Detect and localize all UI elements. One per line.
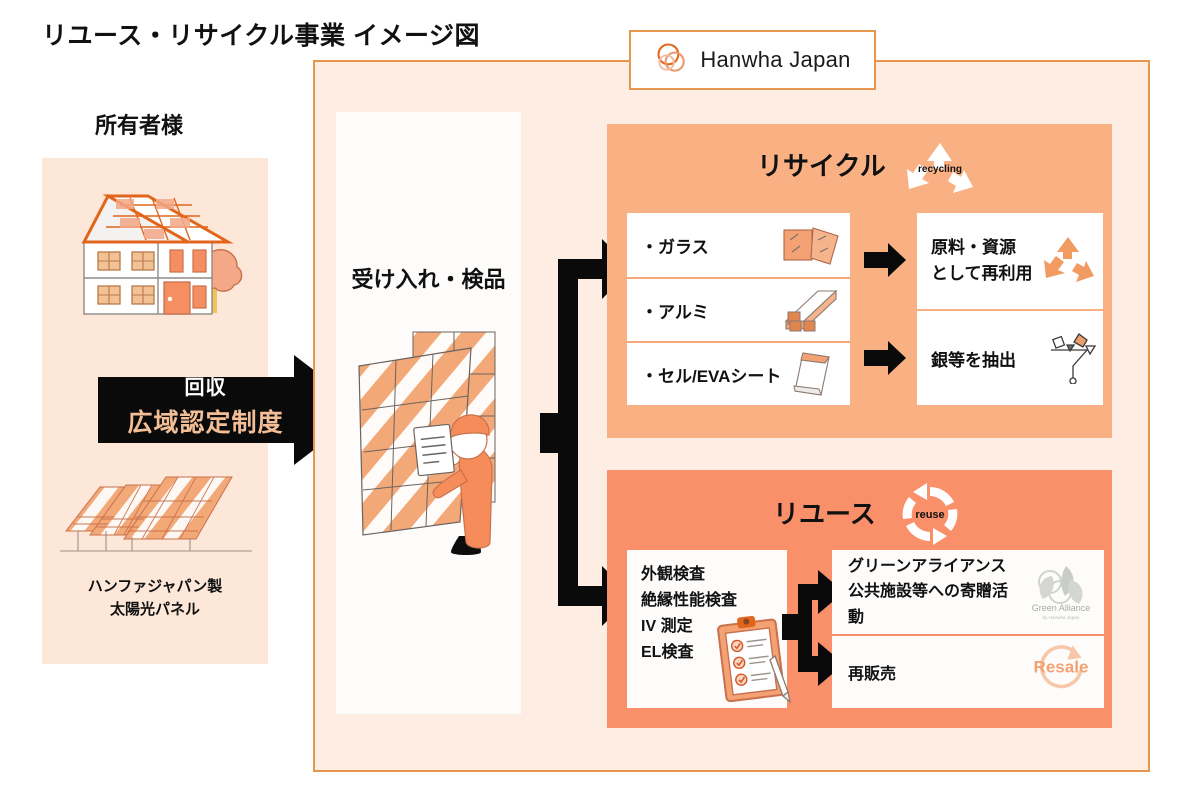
reuse-output-resale: 再販売 Resale bbox=[832, 636, 1104, 708]
reuse-output-line2: 公共施設等への寄贈活動 bbox=[848, 583, 1008, 626]
owner-section-label: 所有者様 bbox=[95, 108, 183, 140]
recycle-material-label: ・セル/EVAシート bbox=[641, 362, 781, 387]
collection-arrow-line1: 回収 bbox=[98, 371, 313, 400]
reuse-test-item: 外観検査 bbox=[641, 562, 787, 588]
solar-panel-array-icon bbox=[56, 465, 256, 565]
recycle-title: リサイクル bbox=[757, 146, 886, 183]
arrow-to-material-reuse bbox=[864, 243, 906, 277]
owner-caption-line2: 太陽光パネル bbox=[42, 599, 268, 622]
reuse-title: リユース bbox=[773, 494, 876, 531]
page-title: リユース・リサイクル事業 イメージ図 bbox=[42, 16, 480, 52]
reuse-output-green-alliance: グリーンアライアンス 公共施設等への寄贈活動 Green Alliance by… bbox=[832, 550, 1104, 634]
recycle-material-row: ・セル/EVAシート bbox=[627, 341, 850, 405]
arrow-to-silver-extraction bbox=[864, 341, 906, 375]
hanwha-japan-logo-chip: Hanwha Japan bbox=[629, 30, 876, 90]
recycle-materials-list: ・ガラス ・アルミ bbox=[627, 213, 850, 405]
resale-logo-text: Resale bbox=[1034, 657, 1089, 676]
recycle-material-row: ・ガラス bbox=[627, 213, 850, 277]
owner-caption-line1: ハンファジャパン製 bbox=[42, 576, 268, 599]
recycle-output-silver: 銀等を抽出 bbox=[917, 311, 1103, 405]
worker-inspecting-panels-icon bbox=[355, 330, 530, 565]
recycle-output-label: 原料・資源 として再利用 bbox=[931, 235, 1033, 288]
resale-loop-logo: Resale bbox=[1022, 640, 1100, 704]
reuse-output-line1: グリーンアライアンス bbox=[848, 558, 1006, 575]
green-alliance-logo-text: Green Alliance bbox=[1032, 603, 1091, 613]
recycle-output-material: 原料・資源 として再利用 bbox=[917, 213, 1103, 309]
recycle-output-label: 銀等を抽出 bbox=[931, 346, 1016, 371]
intake-title: 受け入れ・検品 bbox=[336, 262, 521, 294]
recycling-arrows-icon: recycling bbox=[903, 141, 978, 196]
recycle-output-line1: 原料・資源 bbox=[931, 238, 1016, 257]
hanwha-circle-icon bbox=[654, 40, 690, 81]
recycle-loop-icon bbox=[1041, 234, 1097, 289]
reuse-output-label: グリーンアライアンス 公共施設等への寄贈活動 bbox=[848, 554, 1022, 631]
house-with-solar-roof-icon bbox=[60, 190, 252, 325]
recycle-material-row: ・アルミ bbox=[627, 277, 850, 341]
owner-caption: ハンファジャパン製 太陽光パネル bbox=[42, 576, 268, 621]
collection-arrow-line2: 広域認定制度 bbox=[98, 403, 313, 439]
recycle-output-line2: として再利用 bbox=[931, 264, 1033, 283]
funnel-extraction-icon bbox=[1041, 328, 1097, 389]
reuse-arrows-icon: reuse bbox=[897, 483, 963, 545]
hanwha-japan-logo-text: Hanwha Japan bbox=[700, 47, 850, 73]
svg-text:recycling: recycling bbox=[918, 164, 962, 175]
diagram-canvas: リユース・リサイクル事業 イメージ図 所有者様 bbox=[0, 0, 1200, 800]
eva-sheet-roll-icon bbox=[781, 351, 843, 397]
aluminium-frame-icon bbox=[780, 287, 842, 333]
reuse-output-label: 再販売 bbox=[848, 660, 896, 684]
reuse-test-item: 絶縁性能検査 bbox=[641, 588, 787, 614]
recycle-material-label: ・アルミ bbox=[641, 298, 709, 323]
green-alliance-logo-sub: by Hanwha Japan bbox=[1043, 615, 1080, 620]
recycle-material-label: ・ガラス bbox=[641, 233, 709, 258]
svg-text:reuse: reuse bbox=[915, 509, 944, 521]
green-alliance-leaf-logo: Green Alliance by Hanwha Japan bbox=[1022, 560, 1100, 624]
glass-sheets-icon bbox=[780, 222, 842, 268]
